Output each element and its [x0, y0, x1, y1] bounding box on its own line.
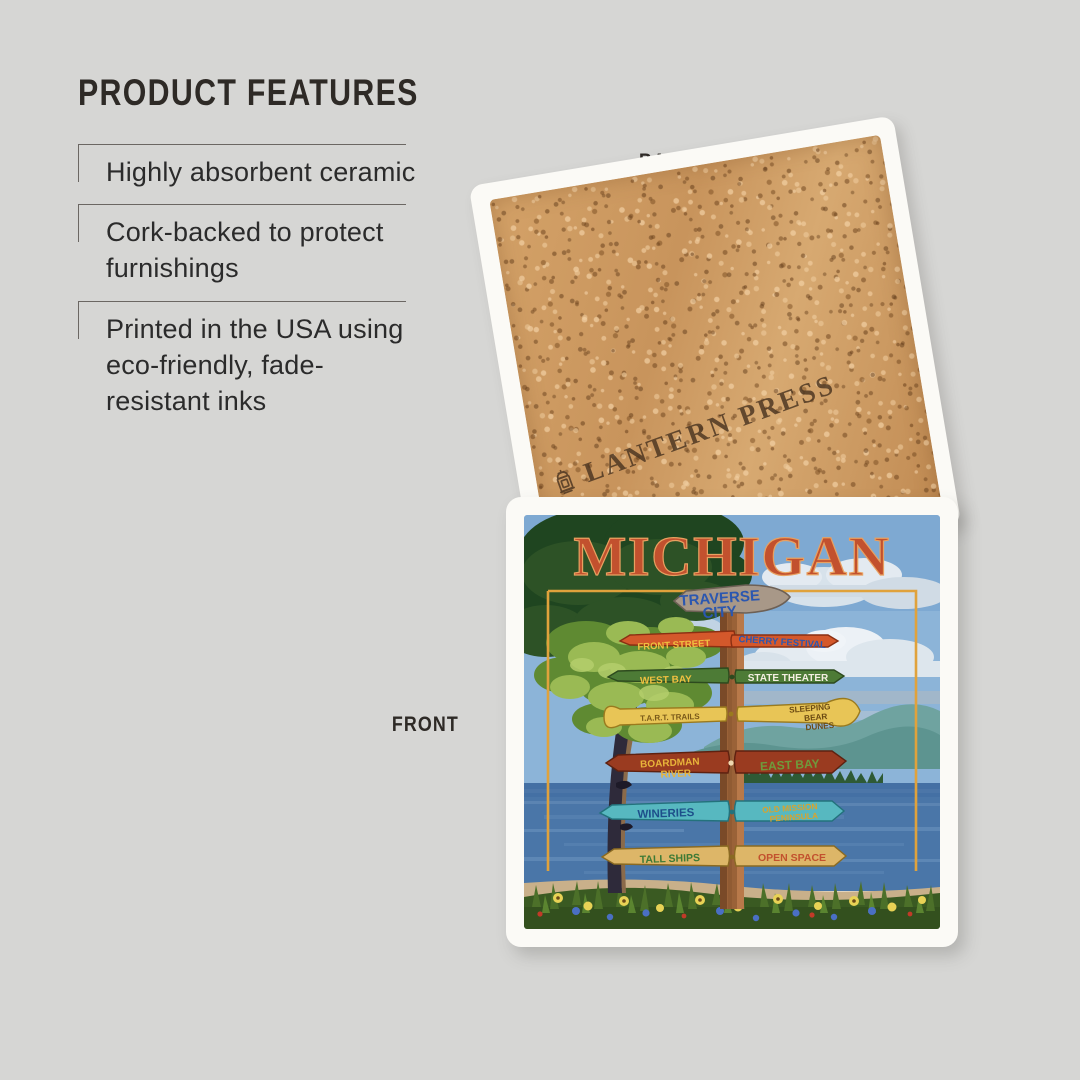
sign-tall-ships-open-space: TALL SHIPS OPEN SPACE — [602, 846, 846, 866]
coaster-artwork: MICHIGAN TRAVERSE CITY — [524, 515, 940, 929]
lantern-icon — [548, 465, 582, 500]
feature-text: Cork-backed to protect furnishings — [106, 214, 418, 286]
sign-label: WEST BAY — [640, 674, 693, 687]
feature-tick — [78, 204, 79, 242]
sign-label: RIVER — [660, 768, 692, 781]
feature-divider — [78, 301, 406, 302]
feature-item: Printed in the USA using eco-friendly, f… — [78, 301, 418, 434]
front-view-label: FRONT — [392, 713, 459, 737]
page-title: PRODUCT FEATURES — [78, 72, 357, 114]
sign-label: WINERIES — [637, 807, 695, 821]
sign-label: OPEN SPACE — [758, 852, 826, 864]
brand-name: LANTERN PRESS — [580, 369, 840, 490]
feature-tick — [78, 144, 79, 182]
feature-divider — [78, 204, 406, 205]
product-features-panel: PRODUCT FEATURES Highly absorbent cerami… — [78, 72, 418, 433]
sign-label: TALL SHIPS — [640, 852, 701, 866]
brand-stamp: LANTERN PRESS — [547, 369, 840, 502]
artwork-title: MICHIGAN — [574, 526, 891, 588]
feature-text: Printed in the USA using eco-friendly, f… — [106, 311, 418, 420]
feature-text: Highly absorbent ceramic — [106, 154, 418, 190]
sign-label: CITY — [702, 603, 737, 622]
coaster-front-view: MICHIGAN TRAVERSE CITY — [506, 497, 958, 947]
sign-label: STATE THEATER — [748, 673, 829, 684]
feature-divider — [78, 144, 406, 145]
feature-tick — [78, 301, 79, 339]
feature-item: Cork-backed to protect furnishings — [78, 204, 418, 300]
feature-item: Highly absorbent ceramic — [78, 144, 418, 204]
